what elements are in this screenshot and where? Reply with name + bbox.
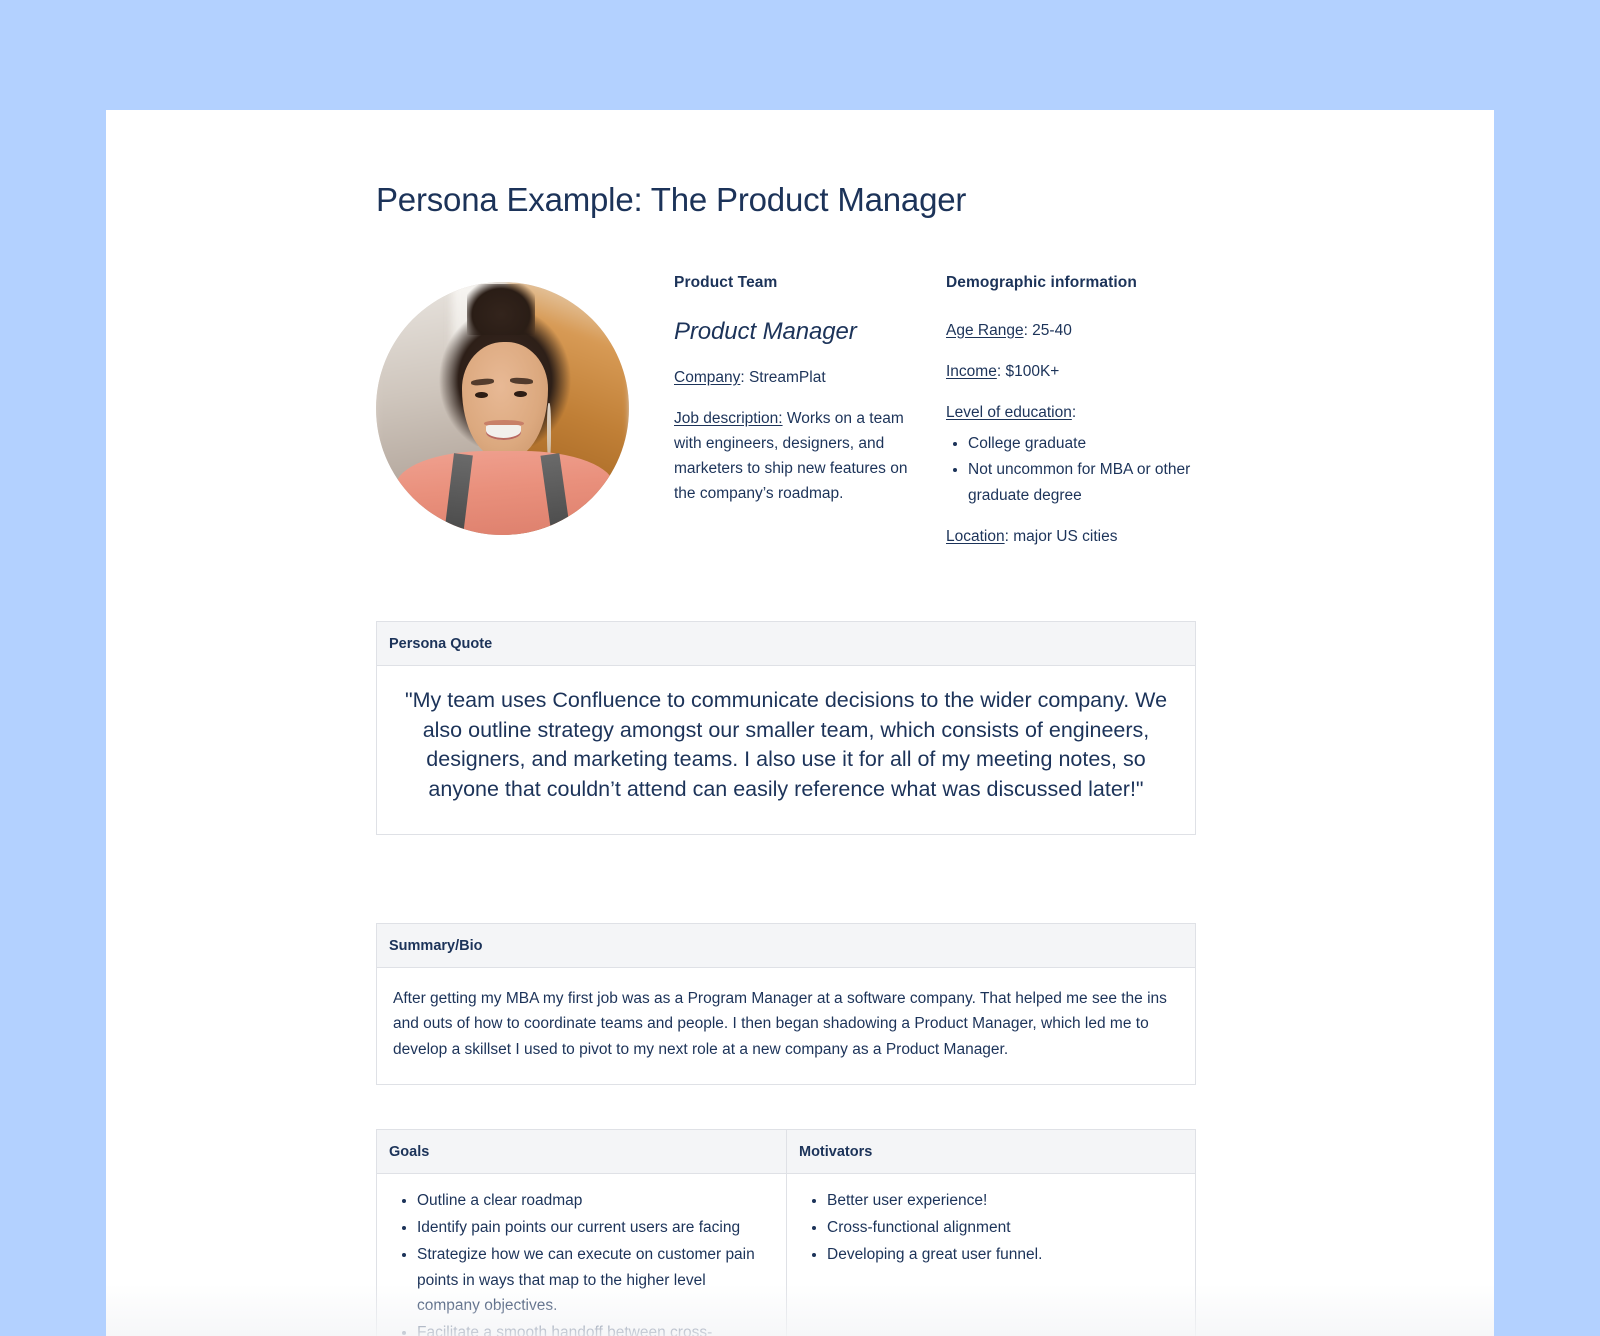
photo-sweater	[396, 451, 614, 534]
income-line: Income: $100K+	[946, 359, 1196, 384]
summary-bio-body: After getting my MBA my first job was as…	[377, 968, 1195, 1084]
education-value: :	[1072, 404, 1076, 421]
company-line: Company: StreamPlat	[674, 365, 926, 390]
company-value: : StreamPlat	[740, 369, 825, 386]
list-item: Cross-functional alignment	[827, 1215, 1181, 1240]
income-label: Income	[946, 363, 997, 380]
demographic-column: Demographic information Age Range: 25-40…	[946, 274, 1196, 550]
persona-quote-text: "My team uses Confluence to communicate …	[391, 682, 1181, 814]
goals-header: Goals	[377, 1130, 786, 1174]
education-line: Level of education:	[946, 400, 1196, 425]
list-item: College graduate	[968, 431, 1196, 456]
photo-eyebrow-right	[510, 377, 533, 384]
company-label: Company	[674, 369, 740, 386]
document-content: Persona Example: The Product Manager	[376, 180, 1196, 1336]
age-range-label: Age Range	[946, 322, 1024, 339]
motivators-body: Better user experience! Cross-functional…	[787, 1174, 1195, 1336]
education-label: Level of education	[946, 404, 1072, 421]
list-item: Outline a clear roadmap	[417, 1188, 772, 1213]
education-list: College graduate Not uncommon for MBA or…	[946, 431, 1196, 508]
location-label: Location	[946, 528, 1005, 545]
goals-column: Goals Outline a clear roadmap Identify p…	[377, 1130, 786, 1336]
avatar-column	[376, 274, 674, 535]
summary-bio-header: Summary/Bio	[377, 924, 1195, 968]
list-item: Better user experience!	[827, 1188, 1181, 1213]
section-spacer	[376, 1085, 1196, 1129]
job-description-label: Job description:	[674, 410, 783, 427]
list-item: Developing a great user funnel.	[827, 1242, 1181, 1267]
persona-profile-row: Product Team Product Manager Company: St…	[376, 274, 1196, 550]
goals-body: Outline a clear roadmap Identify pain po…	[377, 1174, 786, 1336]
goals-list: Outline a clear roadmap Identify pain po…	[391, 1188, 772, 1336]
income-value: : $100K+	[997, 363, 1059, 380]
summary-bio-text: After getting my MBA my first job was as…	[391, 984, 1181, 1064]
document-page: Persona Example: The Product Manager	[106, 110, 1494, 1336]
persona-quote-body: "My team uses Confluence to communicate …	[377, 666, 1195, 834]
list-item: Identify pain points our current users a…	[417, 1215, 772, 1240]
product-team-column: Product Team Product Manager Company: St…	[674, 274, 946, 507]
motivators-column: Motivators Better user experience! Cross…	[786, 1130, 1195, 1336]
page-title: Persona Example: The Product Manager	[376, 180, 1196, 220]
photo-smile	[486, 425, 521, 440]
location-value: : major US cities	[1005, 528, 1118, 545]
list-item: Facilitate a smooth handoff between cros…	[417, 1320, 772, 1336]
motivators-header: Motivators	[787, 1130, 1195, 1174]
age-range-line: Age Range: 25-40	[946, 318, 1196, 343]
motivators-list: Better user experience! Cross-functional…	[801, 1188, 1181, 1268]
persona-quote-panel: Persona Quote "My team uses Confluence t…	[376, 621, 1196, 835]
persona-role-title: Product Manager	[674, 318, 926, 346]
photo-earring	[547, 403, 551, 459]
product-team-heading: Product Team	[674, 274, 926, 292]
location-line: Location: major US cities	[946, 524, 1196, 549]
photo-hair-bun	[467, 284, 535, 335]
list-item: Not uncommon for MBA or other graduate d…	[968, 457, 1196, 508]
job-description-line: Job description: Works on a team with en…	[674, 406, 926, 506]
persona-portrait-photo	[376, 282, 629, 535]
list-item: Strategize how we can execute on custome…	[417, 1242, 772, 1318]
section-spacer	[376, 835, 1196, 923]
summary-bio-panel: Summary/Bio After getting my MBA my firs…	[376, 923, 1196, 1085]
persona-quote-header: Persona Quote	[377, 622, 1195, 666]
goals-motivators-table: Goals Outline a clear roadmap Identify p…	[376, 1129, 1196, 1336]
demographic-heading: Demographic information	[946, 274, 1196, 292]
age-range-value: : 25-40	[1024, 322, 1072, 339]
